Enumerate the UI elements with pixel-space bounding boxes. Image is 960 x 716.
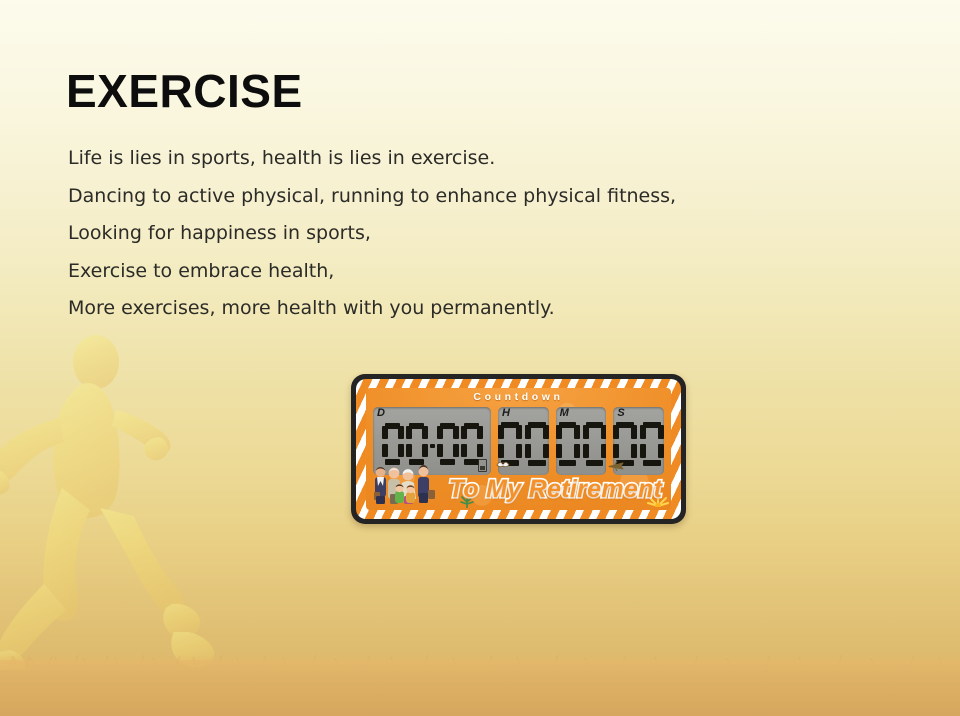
lcd-digit — [556, 422, 580, 466]
lcd-segment-b — [516, 425, 522, 439]
lcd-segment-c — [477, 444, 483, 457]
bird-icon — [496, 458, 510, 470]
lcd-segment-c — [516, 444, 522, 458]
digits-minutes — [556, 422, 607, 466]
lcd-segment-e — [437, 444, 443, 457]
verse-block: Life is lies in sports, health is lies i… — [68, 140, 898, 328]
lcd-segment-e — [382, 444, 388, 457]
lcd-segment-c — [398, 444, 404, 457]
lcd-segment-f — [498, 425, 504, 439]
lcd-segment-c — [658, 444, 664, 458]
lcd-separator — [430, 444, 435, 448]
lcd-digit — [640, 422, 664, 466]
device-striped-border: Countdown D H M — [356, 379, 681, 519]
lcd-segment-b — [631, 425, 637, 439]
lcd-segment-c — [543, 444, 549, 458]
digits-seconds — [613, 422, 664, 466]
family-illustration-icon — [369, 463, 455, 507]
lcd-segment-f — [613, 425, 619, 439]
verse-line: Exercise to embrace health, — [68, 253, 898, 291]
verse-line: Looking for happiness in sports, — [68, 215, 898, 253]
lcd-segment-e — [406, 444, 412, 457]
lcd-segment-c — [601, 444, 607, 458]
slide-canvas: EXERCISE Life is lies in sports, health … — [0, 0, 960, 716]
countdown-timer-device[interactable]: Countdown D H M — [351, 374, 686, 524]
lcd-segment-e — [640, 444, 646, 458]
lcd-segment-f — [461, 426, 467, 439]
page-title: EXERCISE — [66, 68, 303, 114]
verse-line: Life is lies in sports, health is lies i… — [68, 140, 898, 178]
verse-line: Dancing to active physical, running to e… — [68, 178, 898, 216]
lcd-segment-c — [422, 444, 428, 457]
lcd-segment-c — [574, 444, 580, 458]
lcd-digit — [382, 423, 404, 465]
lcd-segment-e — [498, 444, 504, 458]
lcd-digit — [525, 422, 549, 466]
lcd-segment-c — [631, 444, 637, 458]
lcd-segment-e — [461, 444, 467, 457]
lcd-segment-f — [556, 425, 562, 439]
lcd-segment-b — [422, 426, 428, 439]
lcd-segment-b — [601, 425, 607, 439]
lcd-digit — [406, 423, 428, 465]
lcd-segment-f — [437, 426, 443, 439]
panel-label-minutes: M — [560, 408, 569, 419]
lcd-digit — [437, 423, 459, 465]
lcd-segment-b — [658, 425, 664, 439]
lcd-segment-b — [453, 426, 459, 439]
lcd-segment-e — [583, 444, 589, 458]
lcd-segment-f — [640, 425, 646, 439]
lcd-digit — [613, 422, 637, 466]
verse-line: More exercises, more health with you per… — [68, 290, 898, 328]
lcd-segment-c — [453, 444, 459, 457]
lcd-segment-b — [574, 425, 580, 439]
lcd-segment-f — [406, 426, 412, 439]
lcd-segment-b — [477, 426, 483, 439]
running-man-silhouette-icon — [0, 322, 254, 670]
lcd-segment-f — [382, 426, 388, 439]
lcd-segment-f — [583, 425, 589, 439]
banner-text: To My Retirement — [444, 477, 667, 502]
panel-label-hours: H — [502, 408, 510, 419]
ground-band — [0, 660, 960, 716]
lcd-segment-b — [543, 425, 549, 439]
lcd-segment-e — [556, 444, 562, 458]
airplane-icon — [608, 460, 624, 472]
panel-label-days: D — [377, 408, 385, 419]
lcd-segment-e — [613, 444, 619, 458]
device-banner: To My Retirement — [366, 462, 671, 508]
panel-label-seconds: S — [617, 408, 624, 419]
lcd-digit — [583, 422, 607, 466]
lcd-segment-f — [525, 425, 531, 439]
digits-days — [382, 423, 483, 465]
lcd-segment-b — [398, 426, 404, 439]
device-title: Countdown — [366, 391, 671, 403]
device-face: Countdown D H M — [366, 388, 671, 510]
lcd-segment-e — [525, 444, 531, 458]
